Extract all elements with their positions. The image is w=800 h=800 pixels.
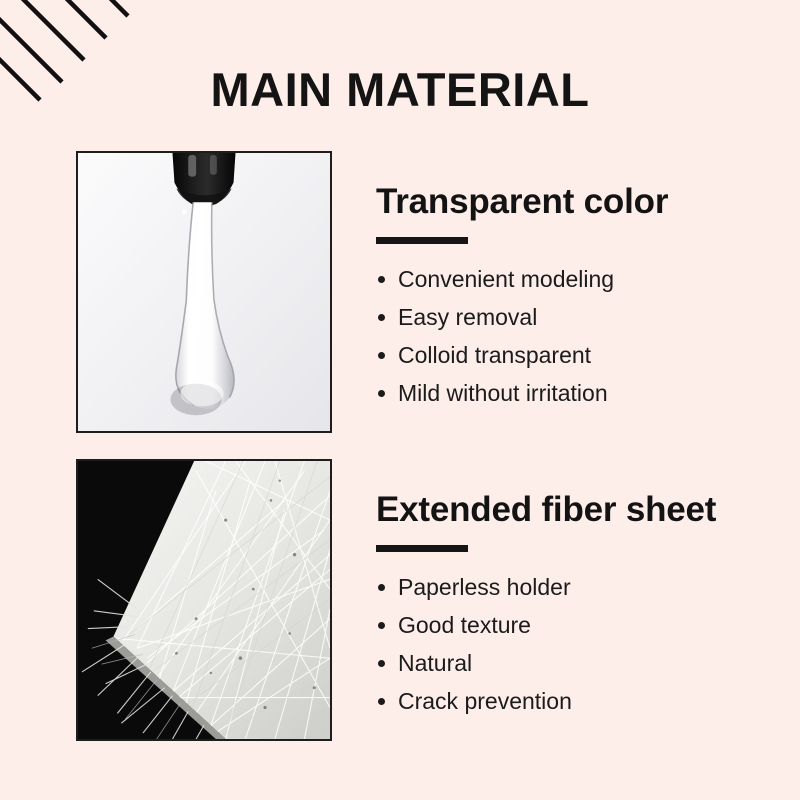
bullet-icon (378, 584, 385, 591)
list-item-label: Natural (398, 650, 472, 676)
gel-droplet-illustration (78, 153, 330, 431)
list-item: Good texture (376, 606, 776, 644)
feature-bullet-list: Paperless holder Good texture Natural Cr… (376, 568, 776, 720)
feature-text-extended-fiber-sheet: Extended fiber sheet Paperless holder Go… (376, 459, 776, 720)
feature-text-transparent-color: Transparent color Convenient modeling Ea… (376, 151, 776, 412)
bullet-icon (378, 390, 385, 397)
list-item-label: Good texture (398, 612, 531, 638)
list-item-label: Easy removal (398, 304, 537, 330)
list-item: Natural (376, 644, 776, 682)
thumbnail-gel-droplet (76, 151, 332, 433)
list-item: Easy removal (376, 298, 776, 336)
list-item-label: Convenient modeling (398, 266, 614, 292)
bullet-icon (378, 660, 385, 667)
list-item: Paperless holder (376, 568, 776, 606)
feature-heading: Transparent color (376, 184, 776, 221)
list-item: Convenient modeling (376, 260, 776, 298)
list-item: Crack prevention (376, 682, 776, 720)
bullet-icon (378, 622, 385, 629)
list-item-label: Crack prevention (398, 688, 572, 714)
feature-bullet-list: Convenient modeling Easy removal Colloid… (376, 260, 776, 412)
list-item-label: Mild without irritation (398, 380, 608, 406)
page-title: MAIN MATERIAL (0, 62, 800, 117)
bullet-icon (378, 314, 385, 321)
feature-heading: Extended fiber sheet (376, 492, 776, 529)
heading-underline-rule (376, 545, 468, 552)
fiber-sheet-illustration (78, 461, 330, 739)
list-item-label: Colloid transparent (398, 342, 591, 368)
bullet-icon (378, 352, 385, 359)
bullet-icon (378, 698, 385, 705)
thumbnail-fiber-sheet (76, 459, 332, 741)
list-item-label: Paperless holder (398, 574, 571, 600)
bullet-icon (378, 276, 385, 283)
list-item: Mild without irritation (376, 374, 776, 412)
heading-underline-rule (376, 237, 468, 244)
list-item: Colloid transparent (376, 336, 776, 374)
